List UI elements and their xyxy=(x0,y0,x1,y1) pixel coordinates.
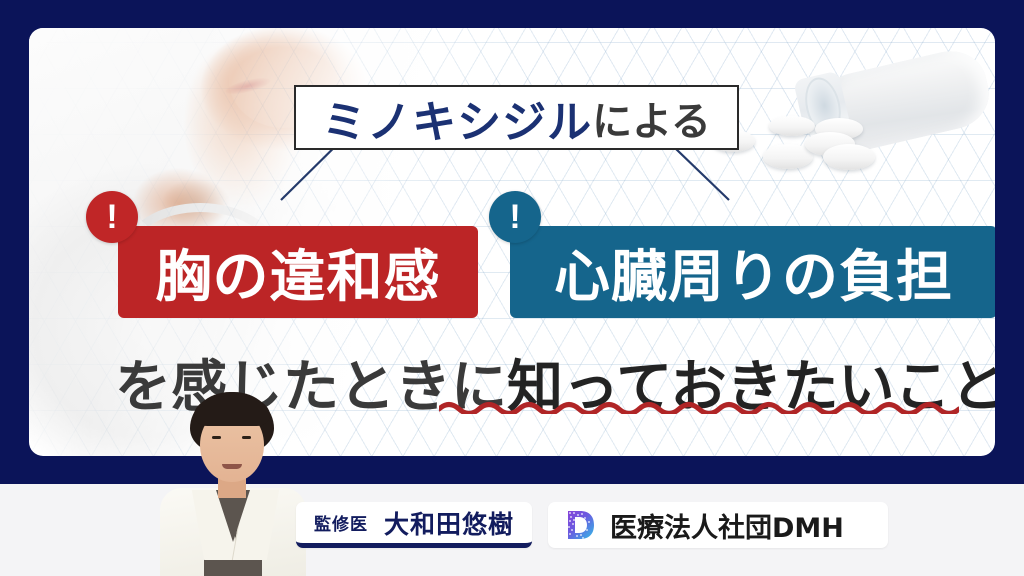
dmh-logo-icon xyxy=(564,508,598,542)
banner-stage: ミノキシジル による 胸の違和感 ! 心臓周りの負担 ! を感じたときに 知って… xyxy=(0,0,1024,576)
supervisor-name: 大和田悠樹 xyxy=(384,505,514,541)
keyword-box-heart-burden: 心臓周りの負担 xyxy=(510,226,995,318)
alert-icon-teal-glyph: ! xyxy=(509,200,520,234)
pill xyxy=(769,116,815,136)
doctor-mouth xyxy=(222,464,242,469)
alert-icon-teal: ! xyxy=(489,191,541,243)
supervisor-role-label: 監修医 xyxy=(314,510,368,535)
doctor-fringe xyxy=(194,396,270,426)
alert-icon-red: ! xyxy=(86,191,138,243)
title-box: ミノキシジル による xyxy=(294,85,739,150)
doctor-eye-right xyxy=(242,436,251,439)
title-highlight: ミノキシジル xyxy=(322,86,592,150)
title-suffix: による xyxy=(592,89,711,147)
alert-icon-red-glyph: ! xyxy=(106,200,117,234)
wavy-underline xyxy=(439,400,959,414)
clinic-name: 医療法人社団DMH xyxy=(610,506,844,545)
supervisor-badge: 監修医 大和田悠樹 xyxy=(296,502,532,548)
doctor-photo xyxy=(152,390,312,576)
keyword-box-chest-discomfort: 胸の違和感 xyxy=(118,226,478,318)
doctor-eye-left xyxy=(212,436,221,439)
pill xyxy=(823,144,875,170)
keyword-label-chest-discomfort: 胸の違和感 xyxy=(156,232,441,313)
keyword-label-heart-burden: 心臓周りの負担 xyxy=(554,232,953,313)
clinic-badge: 医療法人社団DMH xyxy=(548,502,888,548)
